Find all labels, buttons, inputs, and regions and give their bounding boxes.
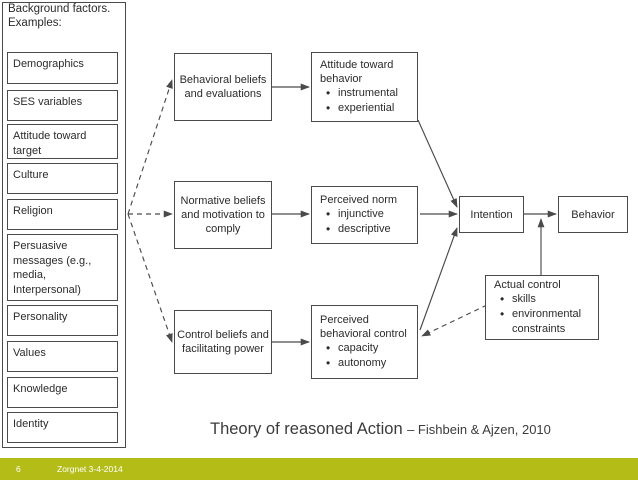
- box-bullet: skills: [512, 292, 598, 307]
- edge-actual-control-to-perceived-control: [422, 305, 487, 336]
- box-bullet-list: instrumental experiential: [312, 86, 417, 116]
- footer-meta: Zorgnet 3-4-2014: [57, 458, 123, 480]
- box-bullet-list: skills environmental constraints: [486, 292, 598, 337]
- slide-footer: 6 Zorgnet 3-4-2014: [0, 458, 638, 480]
- background-factor-culture: Culture: [7, 163, 118, 194]
- box-title: Behavior: [559, 208, 627, 222]
- box-bullet: instrumental: [338, 86, 417, 101]
- background-factor-label: Demographics: [13, 58, 84, 70]
- background-factor-attitude-toward-target: Attitude toward target: [7, 124, 118, 159]
- background-factor-label: Identity: [13, 418, 48, 430]
- box-title: Actual control: [486, 278, 598, 292]
- edge-perceived-control-to-intention: [420, 228, 457, 330]
- box-behavioral-beliefs: Behavioral beliefs and evaluations: [174, 53, 272, 121]
- background-factor-label: SES variables: [13, 96, 82, 108]
- box-bullet: experiential: [338, 101, 417, 116]
- box-title: Perceived behavioral control: [312, 313, 417, 341]
- background-factor-label: Religion: [13, 205, 53, 217]
- box-behavior: Behavior: [558, 196, 628, 233]
- box-perceived-norm: Perceived norm injunctive descriptive: [311, 186, 418, 244]
- box-normative-beliefs: Normative beliefs and motivation to comp…: [174, 181, 272, 249]
- edge-background-to-behavioral-beliefs: [128, 80, 172, 214]
- background-factor-knowledge: Knowledge: [7, 377, 118, 408]
- box-bullet: injunctive: [338, 207, 417, 222]
- background-factor-identity: Identity: [7, 412, 118, 443]
- box-bullet: descriptive: [338, 222, 417, 237]
- box-bullet: environmental constraints: [512, 307, 598, 337]
- box-title: Normative beliefs and motivation to comp…: [175, 194, 271, 236]
- edge-attitude-to-intention: [418, 120, 457, 207]
- box-title: Intention: [460, 208, 523, 222]
- box-actual-control: Actual control skills environmental cons…: [485, 275, 599, 340]
- box-bullet: autonomy: [338, 356, 417, 371]
- box-bullet-list: capacity autonomy: [312, 341, 417, 371]
- background-factor-personality: Personality: [7, 305, 118, 336]
- background-factor-label: Personality: [13, 311, 67, 323]
- caption-source: – Fishbein & Ajzen, 2010: [407, 422, 551, 437]
- background-factors-heading: Background factors. Examples:: [8, 2, 118, 30]
- background-factor-label: Knowledge: [13, 383, 67, 395]
- background-factor-demographics: Demographics: [7, 52, 118, 84]
- background-factor-values: Values: [7, 341, 118, 372]
- box-control-beliefs: Control beliefs and facilitating power: [174, 310, 272, 374]
- background-factor-persuasive-messages: Persuasive messages (e.g., media, Interp…: [7, 234, 118, 301]
- box-intention: Intention: [459, 196, 524, 233]
- caption-title: Theory of reasoned Action: [210, 420, 403, 438]
- background-factor-label: Culture: [13, 169, 48, 181]
- box-title: Perceived norm: [312, 193, 417, 207]
- background-factor-label: Values: [13, 347, 46, 359]
- box-bullet-list: injunctive descriptive: [312, 207, 417, 237]
- background-factor-label: Attitude toward target: [13, 130, 86, 157]
- slide-caption: Theory of reasoned Action – Fishbein & A…: [210, 420, 551, 439]
- box-title: Attitude toward behavior: [312, 58, 417, 86]
- box-attitude-toward-behavior: Attitude toward behavior instrumental ex…: [311, 52, 418, 122]
- box-title: Control beliefs and facilitating power: [175, 328, 271, 356]
- box-perceived-behavioral-control: Perceived behavioral control capacity au…: [311, 305, 418, 379]
- edge-background-to-control-beliefs: [128, 214, 172, 342]
- page-number: 6: [16, 458, 21, 480]
- box-title: Behavioral beliefs and evaluations: [175, 73, 271, 101]
- background-factor-religion: Religion: [7, 199, 118, 230]
- background-factor-ses-variables: SES variables: [7, 90, 118, 121]
- box-bullet: capacity: [338, 341, 417, 356]
- slide-canvas: Background factors. Examples: Demographi…: [0, 0, 638, 480]
- background-factor-label: Persuasive messages (e.g., media, Interp…: [13, 240, 91, 296]
